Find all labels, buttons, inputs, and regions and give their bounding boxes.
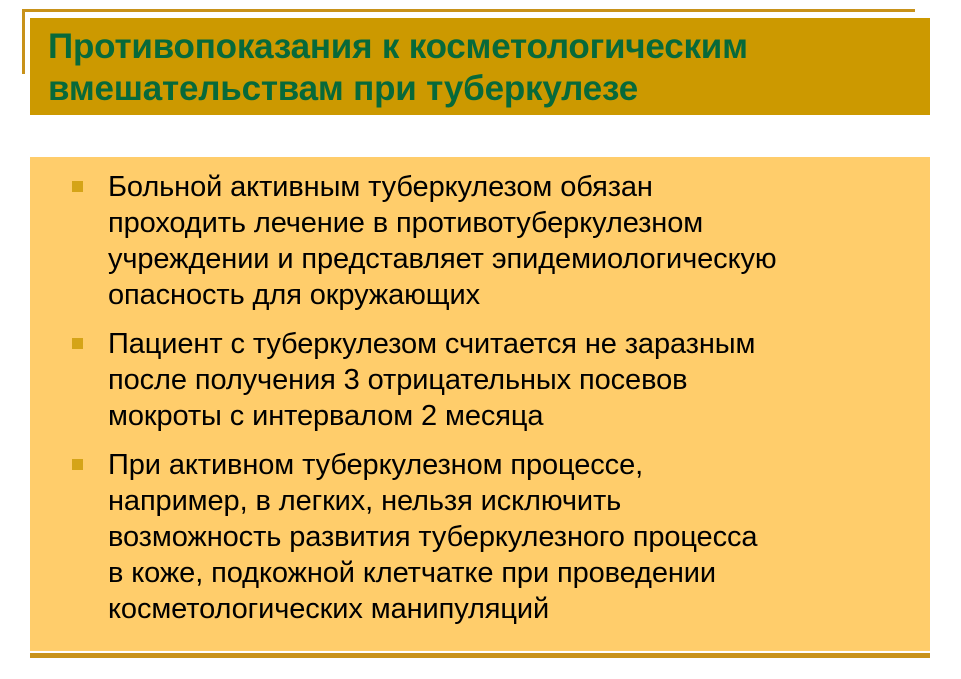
- frame-rule-left: [22, 9, 25, 74]
- slide-title-band: Противопоказания к косметологическим вме…: [30, 18, 930, 115]
- list-item-text: Пациент с туберкулезом считается не зара…: [108, 328, 755, 432]
- frame-rule-top: [22, 9, 915, 12]
- page-title: Противопоказания к косметологическим вме…: [48, 26, 930, 110]
- square-bullet-icon: [72, 338, 83, 349]
- slide-canvas: Противопоказания к косметологическим вме…: [0, 0, 961, 679]
- slide-content-panel: Больной активным туберкулезом обязан про…: [30, 157, 930, 651]
- square-bullet-icon: [72, 181, 83, 192]
- list-item: Больной активным туберкулезом обязан про…: [40, 169, 920, 313]
- list-item: Пациент с туберкулезом считается не зара…: [40, 326, 920, 434]
- frame-rule-bottom: [30, 653, 930, 658]
- list-item-text: Больной активным туберкулезом обязан про…: [108, 171, 777, 311]
- list-item: При активном туберкулезном процессе, нап…: [40, 447, 920, 627]
- bullet-list: Больной активным туберкулезом обязан про…: [40, 169, 920, 627]
- list-item-text: При активном туберкулезном процессе, нап…: [108, 449, 757, 625]
- square-bullet-icon: [72, 459, 83, 470]
